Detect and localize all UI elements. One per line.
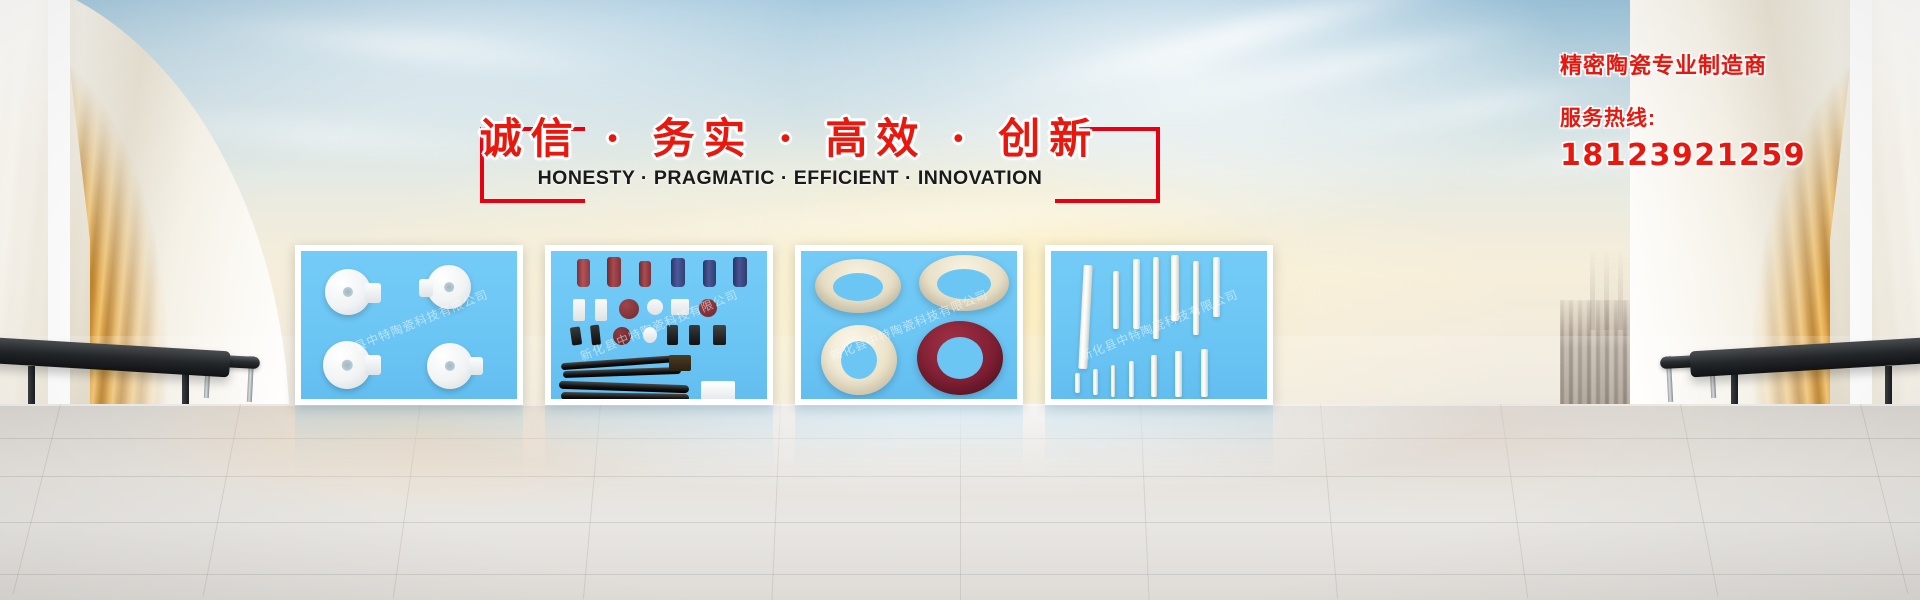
ceramic-part [671,258,685,287]
product-panel-4-image: 新化县中特陶瓷科技有限公司 [1051,251,1267,399]
product-panel-3-image: 新化县中特陶瓷科技有限公司 [801,251,1017,399]
ceramic-part [590,325,601,346]
ceramic-part [365,355,381,375]
ceramic-part [1193,261,1199,335]
slogan-english: HONESTY · PRAGMATIC · EFFICIENT · INNOVA… [470,167,1110,190]
ceramic-part [671,299,689,315]
ceramic-part [689,325,700,345]
panel-reflection [295,405,523,497]
ceramic-part [613,327,631,345]
ceramic-part [1093,369,1098,395]
ceramic-part [1153,257,1159,339]
ceramic-part [1129,361,1134,397]
product-panel-4[interactable]: 新化县中特陶瓷科技有限公司 [1045,245,1273,405]
hotline-number[interactable]: 18123921259 [1560,138,1900,173]
ceramic-part [323,341,371,389]
product-panel-2-image: 新化县中特陶瓷科技有限公司 [551,251,767,399]
bracket-segment [480,199,585,203]
ceramic-part [699,299,717,317]
ceramic-part [419,279,433,297]
ceramic-part [639,261,651,287]
ceramic-part [1201,349,1208,397]
slogan-chinese: 诚信 · 务实 · 高效 · 创新 [470,105,1110,166]
product-panel-1-image: 新化县中特陶瓷科技有限公司 [301,251,517,399]
ceramic-part [1111,365,1115,397]
ceramic-part [1171,255,1179,321]
slogan-block: 诚信 · 务实 · 高效 · 创新 HONESTY · PRAGMATIC · … [470,105,1110,205]
hero-banner: 新化县中特陶瓷科技有限公司 [0,0,1920,600]
ceramic-part [1175,351,1182,397]
ceramic-part [573,299,585,321]
ceramic-part-hole [833,273,883,301]
ceramic-part [701,381,735,399]
ceramic-part [427,265,471,309]
ceramic-part [427,343,473,389]
ceramic-part [667,325,678,345]
ceramic-part-hole [841,341,877,379]
panel-reflection [1045,405,1273,497]
ceramic-part [1078,265,1092,369]
panel-reflection [795,405,1023,497]
ceramic-part-hole [937,337,983,379]
ceramic-part [469,357,483,375]
ceramic-part [703,260,716,287]
ceramic-part [570,326,582,345]
ceramic-part [647,299,663,315]
hotline-label: 服务热线: [1560,102,1900,132]
ceramic-part [595,299,607,321]
ceramic-part [1113,271,1119,329]
ceramic-part [733,257,747,287]
bracket-segment [1156,127,1160,203]
ceramic-part [1213,257,1220,317]
panel-reflection [545,405,773,497]
product-panel-2[interactable]: 新化县中特陶瓷科技有限公司 [545,245,773,405]
ceramic-part-hole [937,269,991,299]
ceramic-part [365,283,381,303]
product-panel-3[interactable]: 新化县中特陶瓷科技有限公司 [795,245,1023,405]
ceramic-part [561,392,689,399]
contact-block: 精密陶瓷专业制造商 服务热线: 18123921259 [1560,48,1900,173]
ceramic-part [1075,373,1080,393]
ceramic-part [607,257,621,287]
ceramic-part [713,325,726,345]
product-panel-1[interactable]: 新化县中特陶瓷科技有限公司 [295,245,523,405]
ceramic-part [619,299,639,319]
bracket-segment [1055,199,1160,203]
ceramic-part [577,259,590,287]
ceramic-part [1151,355,1157,397]
ceramic-part [643,327,657,343]
ceramic-part [1133,259,1140,329]
ceramic-part [669,355,691,371]
company-tagline: 精密陶瓷专业制造商 [1560,48,1900,80]
